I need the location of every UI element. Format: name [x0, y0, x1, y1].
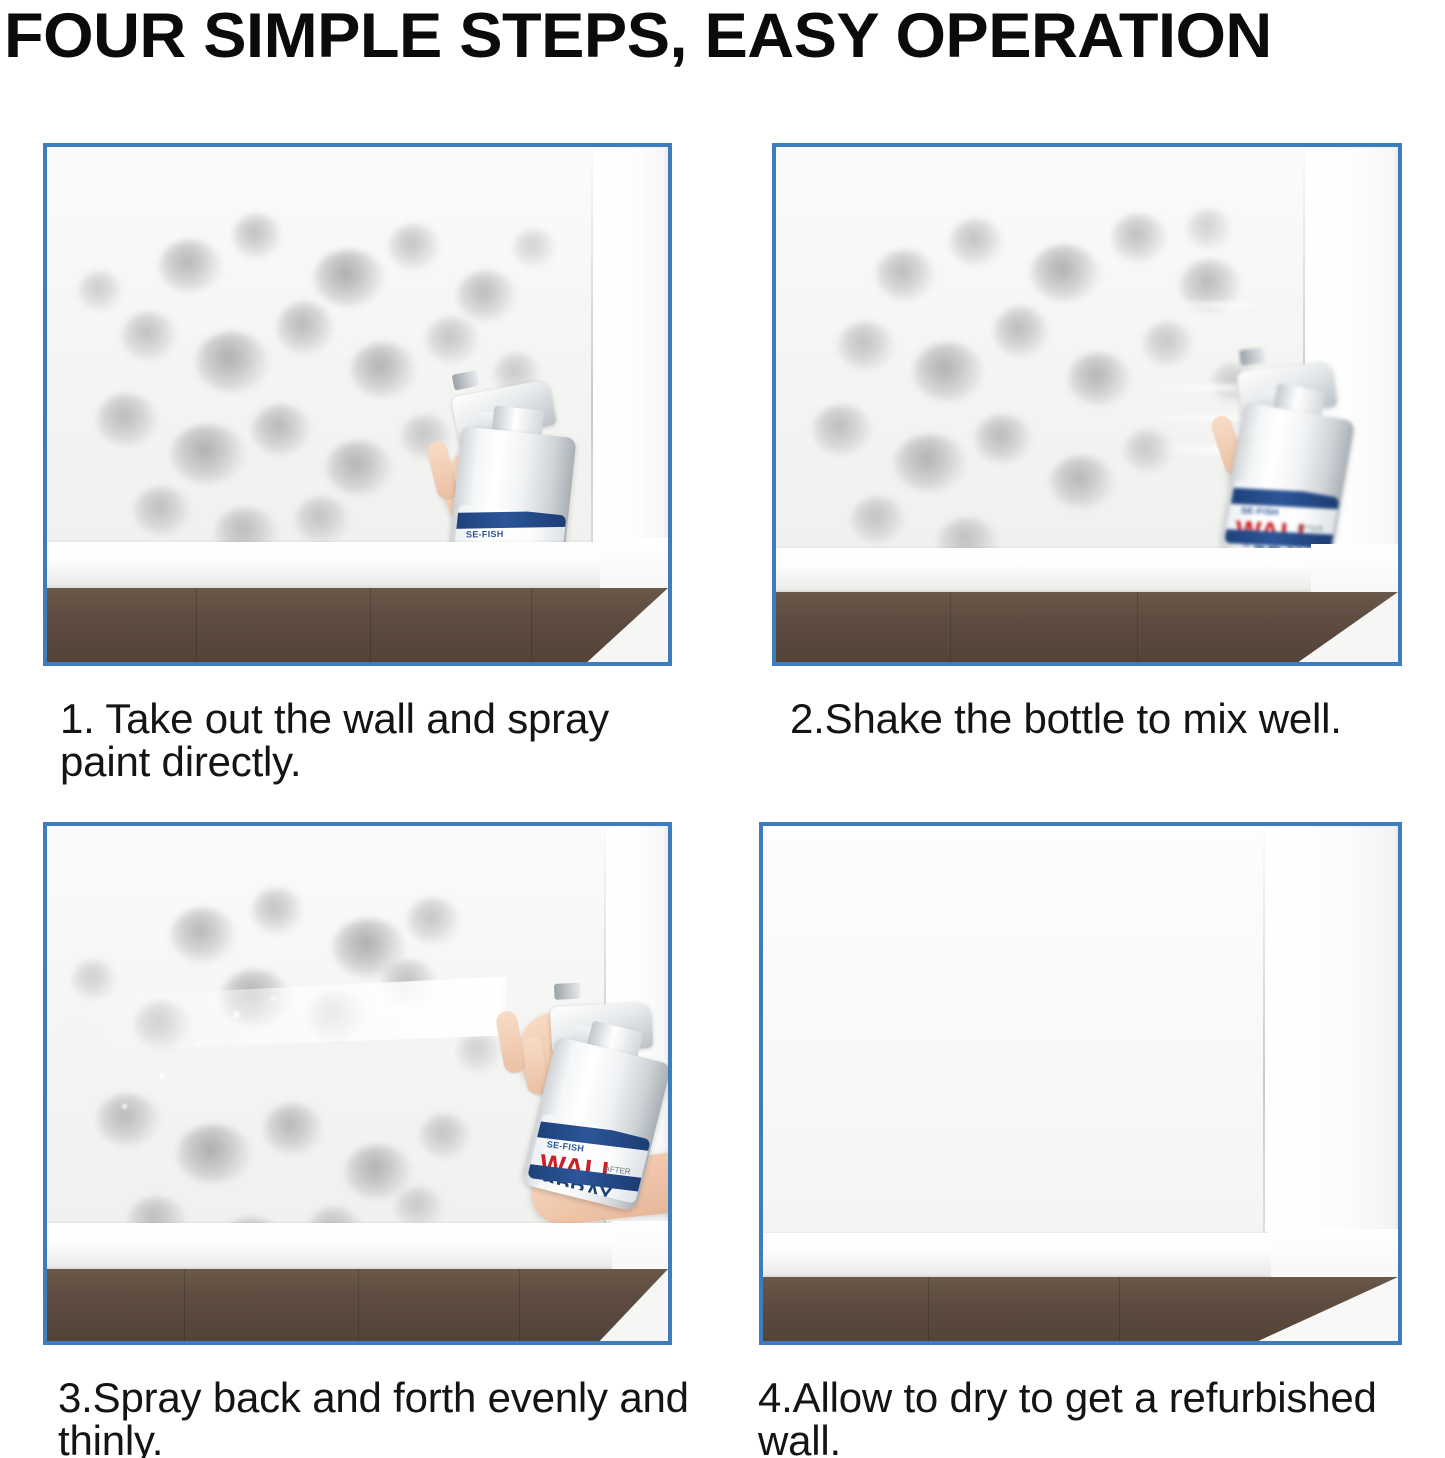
baseboard — [47, 1223, 612, 1269]
step-caption-2: 2.Shake the bottle to mix well. — [790, 697, 1440, 740]
scene-spraying-wall: SE-FISH WALL SPRAY AFTER — [47, 826, 668, 1341]
scene-moldy-wall-1: SE-FISH WALL SPRAY AFTER — [47, 147, 668, 662]
floor — [47, 588, 668, 662]
floor — [776, 592, 1398, 662]
nozzle-icon — [554, 982, 581, 999]
baseboard — [776, 548, 1311, 592]
step-caption-1: 1. Take out the wall and spray paint dir… — [60, 697, 700, 783]
instruction-infographic: FOUR SIMPLE STEPS, EASY OPERATION — [0, 0, 1445, 1458]
baseboard — [47, 542, 600, 588]
bottle-label: SE-FISH WALL SPRAY AFTER — [527, 1113, 651, 1204]
scene-clean-wall — [763, 826, 1398, 1341]
nozzle-icon — [1239, 347, 1265, 366]
scene-shaking-bottle: SE-FISH WALL SPRAY AFTER — [776, 147, 1398, 662]
baseboard — [763, 1233, 1271, 1277]
floor — [47, 1269, 668, 1341]
step-caption-4: 4.Allow to dry to get a refurbished wall… — [758, 1376, 1445, 1458]
page-title: FOUR SIMPLE STEPS, EASY OPERATION — [4, 2, 1445, 70]
step-panel-1: SE-FISH WALL SPRAY AFTER — [43, 143, 672, 666]
step-panel-3: SE-FISH WALL SPRAY AFTER — [43, 822, 672, 1345]
step-panel-4 — [759, 822, 1402, 1345]
label-band-top — [452, 510, 566, 528]
step-panel-2: SE-FISH WALL SPRAY AFTER — [772, 143, 1402, 666]
step-caption-3: 3.Spray back and forth evenly and thinly… — [58, 1376, 698, 1458]
brand-text: SE-FISH — [466, 529, 504, 540]
